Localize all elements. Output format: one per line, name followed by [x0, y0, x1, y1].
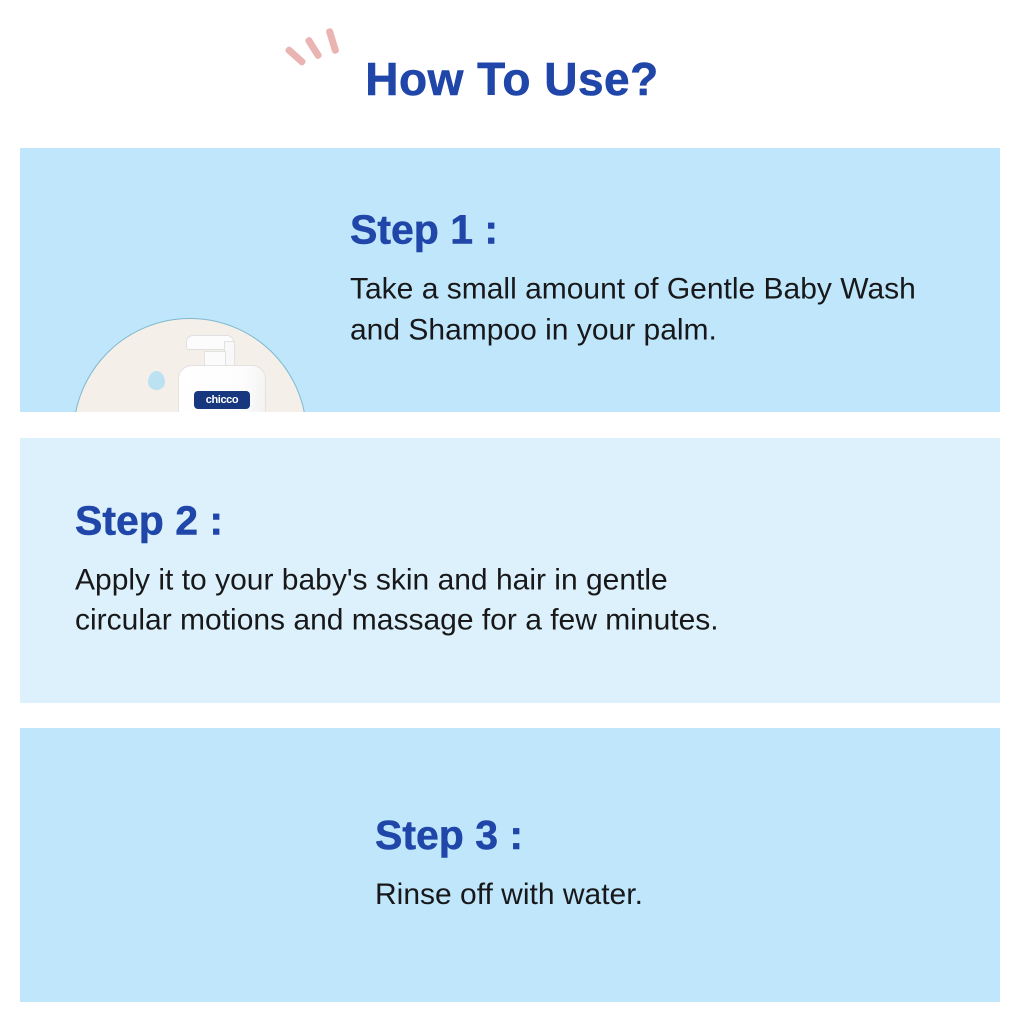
step-3-label: Step 3 :: [375, 814, 975, 857]
step-2-body: Apply it to your baby's skin and hair in…: [75, 560, 725, 642]
step-panel-3: Step 3 : Rinse off with water.: [20, 728, 1000, 1002]
step-2-label: Step 2 :: [75, 499, 725, 542]
page-title: How To Use?: [0, 52, 1024, 106]
step-panel-2: Step 2 : Apply it to your baby's skin an…: [20, 438, 1000, 703]
step-1-text-block: Step 1 : Take a small amount of Gentle B…: [350, 209, 970, 352]
step-panel-1: chicco baby moments 12m+ Gentle Body Was…: [20, 148, 1000, 412]
water-droplet-icon: [148, 371, 165, 390]
brand-logo: chicco: [194, 391, 250, 409]
page-header: How To Use?: [0, 0, 1024, 148]
step-3-body: Rinse off with water.: [375, 875, 975, 916]
spark-mark-icon: [325, 28, 339, 55]
step-1-illustration: chicco baby moments 12m+ Gentle Body Was…: [73, 318, 307, 412]
step-2-text-block: Step 2 : Apply it to your baby's skin an…: [75, 499, 725, 642]
step-1-body: Take a small amount of Gentle Baby Wash …: [350, 270, 970, 352]
step-3-text-block: Step 3 : Rinse off with water.: [375, 814, 975, 916]
step-1-label: Step 1 :: [350, 209, 970, 252]
